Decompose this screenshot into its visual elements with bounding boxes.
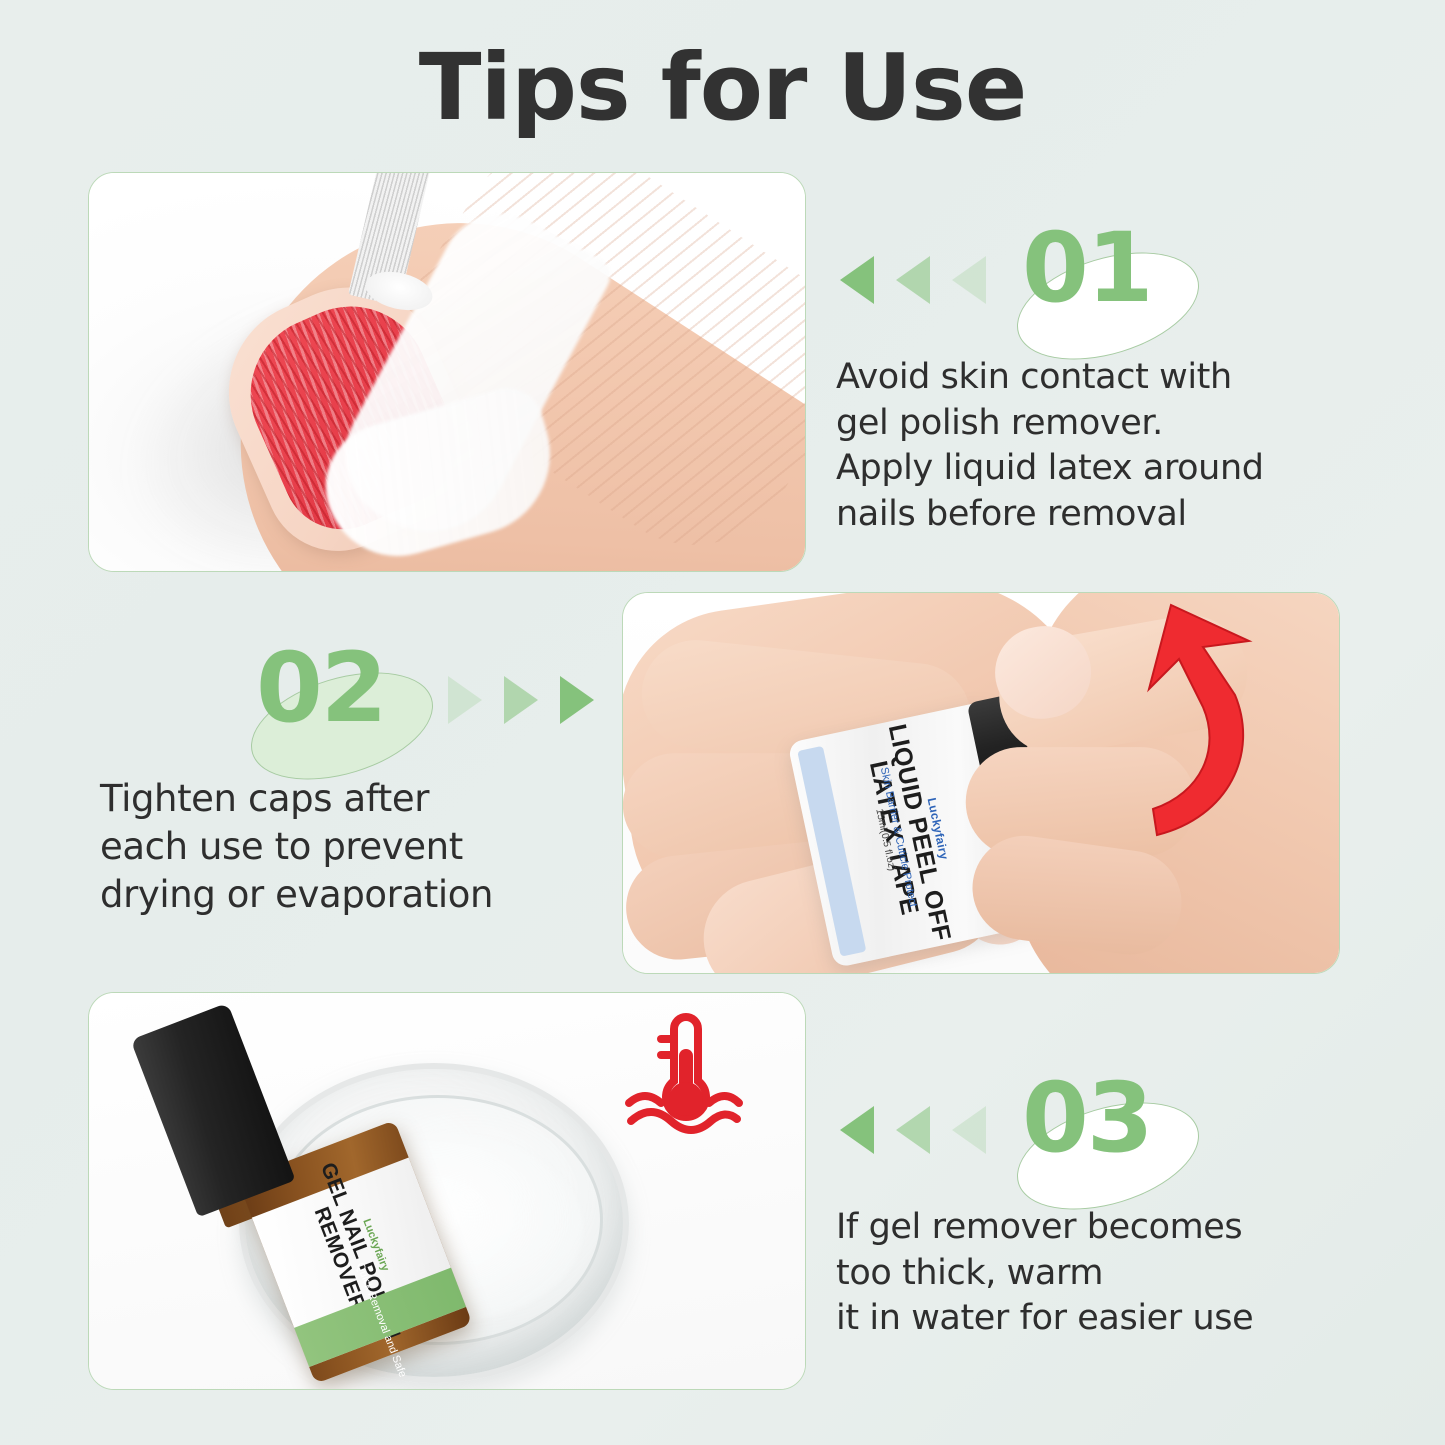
- step-number-badge: 02: [242, 640, 472, 775]
- triangle-right-icon-1: [448, 676, 482, 724]
- step-text: Avoid skin contact with gel polish remov…: [836, 355, 1376, 537]
- step-number: 02: [256, 632, 386, 744]
- arrow-triangles-right: [448, 676, 594, 724]
- triangle-right-icon-2: [504, 676, 538, 724]
- arrow-triangles-left: [840, 1106, 986, 1154]
- triangle-left-icon-3: [952, 256, 986, 304]
- triangle-left-icon-2: [896, 256, 930, 304]
- arrow-triangles-left: [840, 256, 986, 304]
- photo-panel-tighten-cap: Luckyfairy LIQUID PEEL OFF LATEX TAPE Sk…: [622, 592, 1340, 974]
- photo-panel-warm-water: Luckyfairy GEL NAIL POLISH REMOVER Quick…: [88, 992, 806, 1390]
- photo-warm-water: Luckyfairy GEL NAIL POLISH REMOVER Quick…: [89, 993, 805, 1389]
- label-main-text: Luckyfairy LIQUID PEEL OFF LATEX TAPE: [858, 719, 968, 949]
- step-block-02: 02 Tighten caps after each use to preven…: [100, 640, 620, 919]
- page-title: Tips for Use: [0, 34, 1445, 141]
- triangle-left-icon-1: [840, 1106, 874, 1154]
- step-text: If gel remover becomes too thick, warm i…: [836, 1205, 1376, 1342]
- red-curved-arrow-icon: [1053, 603, 1283, 843]
- step-text: Tighten caps after each use to prevent d…: [100, 775, 620, 919]
- photo-tighten-cap: Luckyfairy LIQUID PEEL OFF LATEX TAPE Sk…: [623, 593, 1339, 973]
- step-number: 03: [1022, 1062, 1152, 1174]
- step-block-03: 03 If gel remover becomes too thick, war…: [836, 1070, 1376, 1342]
- step-header: 01: [836, 220, 1376, 355]
- step-number-badge: 03: [1008, 1070, 1238, 1205]
- triangle-left-icon-1: [840, 256, 874, 304]
- step-header: 02: [100, 640, 620, 775]
- thermometer-water-icon: [619, 1011, 749, 1141]
- step-number-badge: 01: [1008, 220, 1238, 355]
- step-header: 03: [836, 1070, 1376, 1205]
- photo-panel-nail-latex: [88, 172, 806, 572]
- step-block-01: 01 Avoid skin contact with gel polish re…: [836, 220, 1376, 537]
- triangle-right-icon-3: [560, 676, 594, 724]
- photo-nail-latex: [89, 173, 805, 571]
- step-number: 01: [1022, 212, 1152, 324]
- triangle-left-icon-2: [896, 1106, 930, 1154]
- triangle-left-icon-3: [952, 1106, 986, 1154]
